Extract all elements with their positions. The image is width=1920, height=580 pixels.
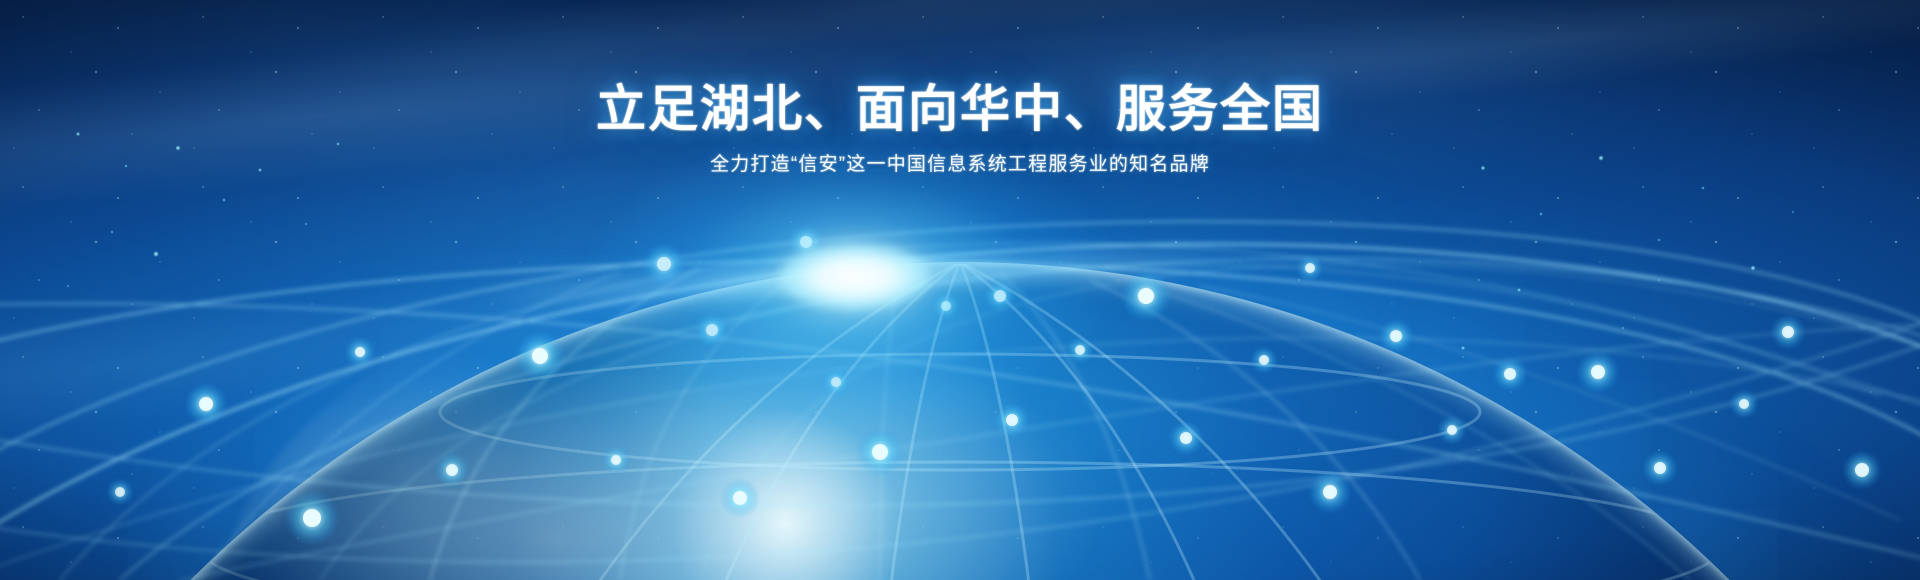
- network-node: [446, 464, 458, 476]
- network-node: [611, 455, 621, 465]
- network-node: [872, 444, 888, 460]
- banner-subheadline: 全力打造“信安”这一中国信息系统工程服务业的知名品牌: [0, 152, 1920, 178]
- network-node: [1259, 355, 1269, 365]
- network-node: [1447, 425, 1457, 435]
- network-node: [115, 487, 125, 497]
- network-node: [733, 491, 747, 505]
- network-node: [199, 397, 213, 411]
- network-radial: [1160, 292, 1690, 580]
- network-node: [1591, 365, 1605, 379]
- banner-headline: 立足湖北、面向华中、服务全国: [0, 80, 1920, 138]
- network-node: [355, 347, 365, 357]
- network-node: [1390, 330, 1402, 342]
- network-node: [1305, 263, 1315, 273]
- banner-copy: 立足湖北、面向华中、服务全国 全力打造“信安”这一中国信息系统工程服务业的知名品…: [0, 80, 1920, 178]
- hero-banner: 立足湖北、面向华中、服务全国 全力打造“信安”这一中国信息系统工程服务业的知名品…: [0, 0, 1920, 580]
- network-node: [1138, 288, 1154, 304]
- network-node: [1323, 485, 1337, 499]
- network-node: [1654, 462, 1666, 474]
- network-node: [1855, 463, 1869, 477]
- network-node: [1782, 326, 1794, 338]
- network-node: [1739, 399, 1749, 409]
- network-node: [1180, 432, 1192, 444]
- network-node: [532, 348, 548, 364]
- network-radial: [200, 272, 620, 580]
- network-node: [1504, 368, 1516, 380]
- network-node: [1006, 414, 1018, 426]
- network-node: [303, 509, 321, 527]
